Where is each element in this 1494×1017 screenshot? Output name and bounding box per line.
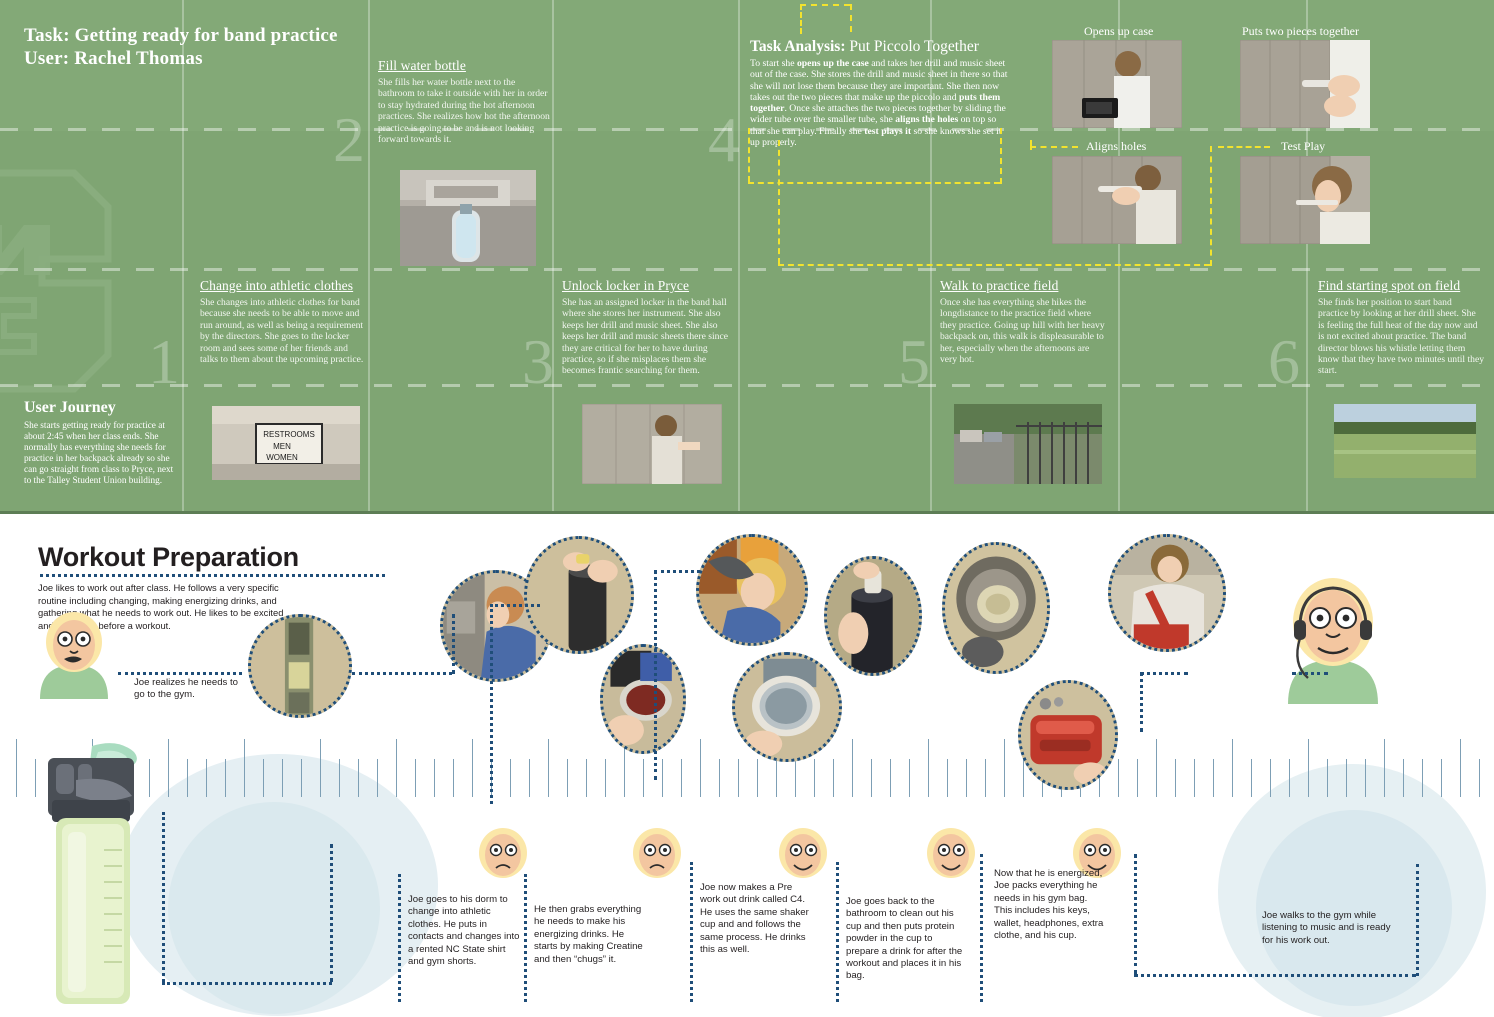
ta-p1: To start she — [750, 58, 797, 69]
avatar-joe-start — [36, 609, 112, 704]
practice-field-photo — [1334, 404, 1476, 478]
ruler-tick — [415, 759, 416, 797]
ruler-tick — [1365, 759, 1366, 797]
yellow-connector — [778, 264, 1210, 266]
ruler-tick — [1441, 759, 1442, 797]
ruler-tick — [548, 739, 549, 797]
ta-b4: test plays it — [864, 126, 911, 137]
dotted-connector — [490, 604, 493, 804]
ruler-tick — [909, 759, 910, 797]
dotted-connector — [690, 862, 693, 1002]
caption-packs-gym-bag: Now that he is energized, Joe packs ever… — [994, 868, 1104, 942]
ruler-tick — [377, 759, 378, 797]
yellow-connector — [1030, 146, 1078, 148]
avatar-face — [778, 827, 828, 884]
red-gym-bag-photo — [1018, 680, 1118, 790]
caption-c4-drink: Joe now makes a Pre work out drink calle… — [700, 882, 812, 956]
step-number-4: 4 — [708, 108, 740, 172]
step-1-title: Change into athletic clothes — [200, 278, 368, 294]
ruler-tick — [434, 759, 435, 797]
ruler-tick — [1137, 759, 1138, 797]
ruler-tick — [643, 759, 644, 797]
ruler-tick — [1422, 759, 1423, 797]
svg-text:WOMEN: WOMEN — [266, 453, 298, 462]
pouring-powder-photo — [824, 556, 922, 676]
yellow-connector — [1210, 146, 1212, 266]
ruler-tick — [1479, 759, 1480, 797]
ruler-tick — [928, 739, 929, 797]
task-analysis-body: To start she opens up the case and takes… — [750, 58, 1008, 148]
yellow-connector — [1000, 128, 1002, 184]
step-6-text: She finds her position to start band pra… — [1318, 297, 1484, 377]
title-dotted-rule — [40, 574, 385, 577]
step-number-1: 1 — [148, 330, 180, 394]
dotted-connector — [524, 874, 527, 1002]
yellow-connector — [850, 4, 852, 32]
dotted-connector — [490, 604, 540, 607]
puts-two-pieces-together-photo — [1240, 40, 1370, 128]
ruler-tick — [567, 759, 568, 797]
task-title: Task: Getting ready for band practice — [24, 24, 338, 47]
empty-cup-photo — [732, 652, 842, 762]
yellow-connector — [748, 128, 750, 182]
yellow-connector — [1218, 146, 1270, 148]
ruler-tick — [1308, 739, 1309, 797]
caption-go-to-gym: Joe realizes he needs to go to the gym. — [134, 677, 246, 702]
user-journey-section: Task: Getting ready for band practice Us… — [0, 0, 1494, 511]
shaker-bottle-illustration — [42, 740, 148, 1010]
ruler-tick — [1156, 739, 1157, 797]
ruler-tick — [320, 739, 321, 797]
ruler-tick — [1403, 759, 1404, 797]
ruler-tick — [890, 759, 891, 797]
ruler-tick — [263, 759, 264, 797]
column-divider — [738, 0, 740, 511]
user-journey-heading: User Journey — [24, 398, 174, 417]
dotted-connector — [118, 672, 242, 675]
workout-preparation-section: Workout Preparation Joe likes to work ou… — [0, 511, 1494, 1017]
ruler-tick — [795, 759, 796, 797]
ruler-tick — [453, 759, 454, 797]
water-fountain-fill-photo — [248, 614, 352, 718]
ruler-tick — [529, 759, 530, 797]
step-2-title: Fill water bottle — [378, 58, 550, 74]
ruler-tick — [472, 739, 473, 797]
step-number-6: 6 — [1268, 330, 1300, 394]
street-walk-photo — [954, 404, 1102, 484]
ruler-tick — [814, 759, 815, 797]
shake-cup-photo — [600, 644, 686, 754]
ta-b3: aligns the holes — [895, 114, 958, 125]
yellow-connector — [778, 140, 780, 264]
ruler-tick — [1118, 759, 1119, 797]
ruler-tick — [510, 759, 511, 797]
student-at-locker-photo — [582, 404, 722, 484]
photo-label-opens-case: Opens up case — [1084, 24, 1153, 38]
avatar-face — [926, 827, 976, 884]
dotted-connector — [398, 874, 401, 1002]
water-fountain-photo — [400, 170, 536, 266]
ruler-tick — [1175, 759, 1176, 797]
dotted-connector — [1140, 672, 1143, 732]
column-divider — [368, 0, 370, 511]
dotted-connector — [1292, 672, 1328, 675]
journey-step-3: Unlock locker in Pryce She has an assign… — [562, 278, 732, 377]
step-5-text: Once she has everything she hikes the lo… — [940, 297, 1108, 365]
dotted-connector — [980, 854, 983, 1002]
journey-step-2: Fill water bottle She fills her water bo… — [378, 58, 550, 145]
caption-protein-powder: Joe goes back to the bathroom to clean o… — [846, 896, 968, 983]
ruler-tick — [16, 739, 17, 797]
ruler-tick — [301, 759, 302, 797]
dotted-connector — [352, 672, 452, 675]
task-analysis-heading: Task Analysis: Put Piccolo Together — [750, 38, 1008, 56]
step-2-text: She fills her water bottle next to the b… — [378, 77, 550, 145]
task-analysis-callout: Task Analysis: Put Piccolo Together To s… — [750, 38, 1008, 148]
step-5-title: Walk to practice field — [940, 278, 1108, 294]
ruler-tick — [339, 759, 340, 797]
dotted-connector — [1140, 672, 1188, 675]
dotted-connector — [1134, 974, 1416, 977]
caption-walks-to-gym: Joe walks to the gym while listening to … — [1262, 910, 1400, 947]
field-dash-line — [0, 268, 1494, 271]
step-3-text: She has an assigned locker in the band h… — [562, 297, 732, 377]
dotted-connector — [654, 570, 657, 780]
ruler-tick — [358, 759, 359, 797]
journey-header: Task: Getting ready for band practice Us… — [24, 24, 338, 70]
ruler-tick — [282, 759, 283, 797]
yellow-connector — [800, 4, 802, 34]
ruler-tick — [871, 759, 872, 797]
cup-interior-photo — [942, 542, 1050, 674]
step-number-2: 2 — [333, 108, 365, 172]
ruler-tick — [1004, 739, 1005, 797]
ruler-tick — [1270, 759, 1271, 797]
caption-change-clothes: Joe goes to his dorm to change into athl… — [408, 894, 524, 968]
caption-grabs-everything: He then grabs everything he needs to mak… — [534, 904, 648, 966]
avatar-joe-end-headphones — [1278, 572, 1388, 709]
ruler-tick — [396, 739, 397, 797]
ruler-tick — [947, 759, 948, 797]
ruler-tick — [1384, 739, 1385, 797]
photo-label-two-pieces: Puts two pieces together — [1242, 24, 1359, 38]
ruler-tick — [168, 739, 169, 797]
scoop-powder-photo — [524, 536, 634, 654]
step-6-title: Find starting spot on field — [1318, 278, 1484, 294]
man-with-gym-bag-photo — [1108, 534, 1226, 652]
ruler-tick — [757, 759, 758, 797]
photo-label-test-play: Test Play — [1281, 139, 1325, 153]
photo-label-aligns-holes: Aligns holes — [1086, 139, 1146, 153]
journey-step-6: Find starting spot on field She finds he… — [1318, 278, 1484, 377]
yellow-connector — [748, 182, 1000, 184]
ruler-tick — [225, 759, 226, 797]
drinking-shake-photo — [696, 534, 808, 646]
step-number-5: 5 — [898, 330, 930, 394]
ruler-tick — [149, 759, 150, 797]
svg-text:RESTROOMS: RESTROOMS — [263, 430, 315, 439]
poster-root: Task: Getting ready for band practice Us… — [0, 0, 1494, 1017]
ruler-tick — [1194, 759, 1195, 797]
ruler-tick — [605, 759, 606, 797]
column-divider — [552, 0, 554, 511]
dotted-connector — [162, 812, 165, 982]
journey-step-1: Change into athletic clothes She changes… — [200, 278, 368, 365]
field-dash-line — [0, 128, 1494, 131]
task-analysis-heading-bold: Task Analysis: — [750, 38, 846, 55]
ruler-tick — [833, 759, 834, 797]
ruler-tick — [1232, 739, 1233, 797]
dotted-connector — [330, 844, 333, 982]
ruler-tick — [700, 739, 701, 797]
restrooms-sign-photo: RESTROOMS MEN WOMEN — [212, 406, 360, 480]
ruler-tick — [35, 759, 36, 797]
avatar-face — [632, 827, 682, 884]
ruler-tick — [852, 739, 853, 797]
yellow-connector — [1030, 140, 1032, 150]
ta-b1: opens up the case — [797, 58, 869, 69]
ruler-tick — [586, 759, 587, 797]
aligns-holes-photo — [1052, 156, 1182, 244]
journey-step-5: Walk to practice field Once she has ever… — [940, 278, 1108, 365]
ruler-tick — [719, 759, 720, 797]
opens-up-case-photo — [1052, 40, 1182, 128]
ruler-tick — [1251, 759, 1252, 797]
ruler-tick — [1213, 759, 1214, 797]
test-play-photo — [1240, 156, 1370, 244]
column-divider — [182, 0, 184, 511]
yellow-connector — [800, 4, 850, 6]
ruler-tick — [681, 759, 682, 797]
ruler-tick — [966, 759, 967, 797]
ruler-tick — [985, 759, 986, 797]
step-3-title: Unlock locker in Pryce — [562, 278, 732, 294]
ruler-tick — [206, 759, 207, 797]
user-journey-text: She starts getting ready for practice at… — [24, 421, 174, 487]
ruler-tick — [738, 759, 739, 797]
user-journey-block: User Journey She starts getting ready fo… — [24, 398, 174, 487]
step-1-text: She changes into athletic clothes for ba… — [200, 297, 368, 365]
svg-text:MEN: MEN — [273, 442, 291, 451]
dotted-connector — [654, 570, 700, 573]
workout-title: Workout Preparation — [38, 542, 299, 573]
ruler-tick — [187, 759, 188, 797]
dotted-connector — [836, 862, 839, 1002]
ruler-tick — [1346, 759, 1347, 797]
task-analysis-heading-rest: Put Piccolo Together — [846, 38, 979, 55]
dotted-connector — [162, 982, 332, 985]
ruler-tick — [662, 759, 663, 797]
step-number-3: 3 — [522, 330, 554, 394]
user-title: User: Rachel Thomas — [24, 47, 338, 70]
dotted-connector — [1134, 854, 1137, 974]
ruler-tick — [1023, 759, 1024, 797]
ruler-tick — [1460, 739, 1461, 797]
ruler-tick — [1289, 759, 1290, 797]
ruler-tick — [1327, 759, 1328, 797]
dotted-connector — [1416, 864, 1419, 976]
avatar-face — [478, 827, 528, 884]
ruler-tick — [244, 739, 245, 797]
dotted-connector — [452, 614, 455, 674]
